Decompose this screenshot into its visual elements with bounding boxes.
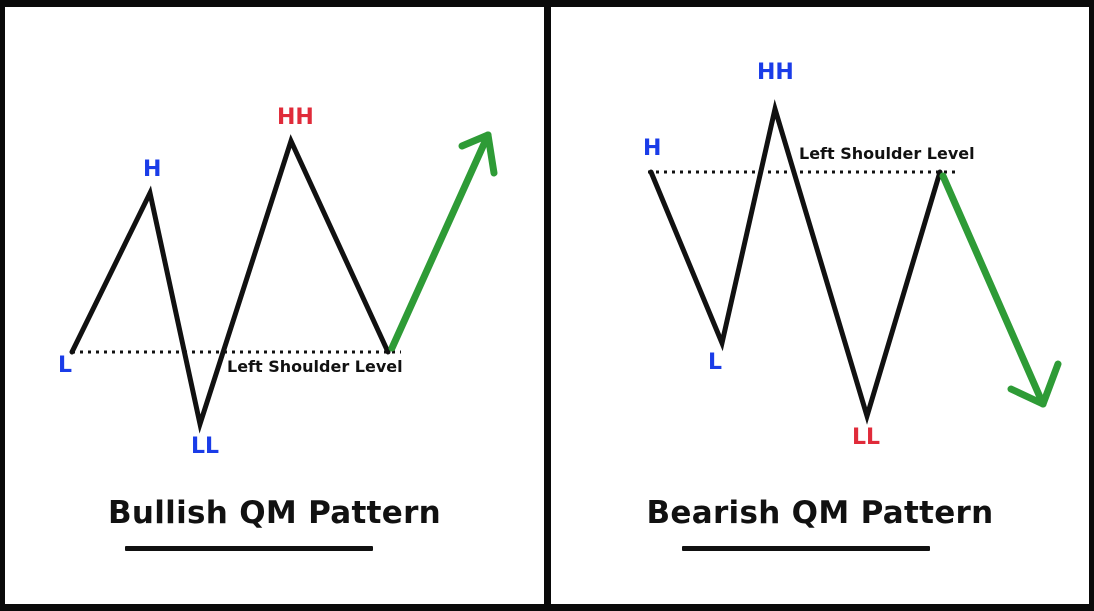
bearish-label-L: L [708, 352, 722, 374]
bullish-label-HH: HH [277, 107, 314, 129]
bearish-label-LL: LL [852, 427, 880, 449]
bullish-left-shoulder-level-caption: Left Shoulder Level [227, 359, 403, 375]
bearish-panel-title: Bearish QM Pattern [551, 495, 1089, 531]
bullish-panel-title: Bullish QM Pattern [5, 495, 544, 531]
bullish-label-L: L [58, 355, 72, 377]
bearish-label-H: H [643, 138, 661, 160]
bullish-breakout-arrow-icon [392, 135, 494, 348]
bearish-breakdown-arrow-icon [943, 176, 1058, 404]
bullish-price-path [72, 141, 388, 424]
panel-bullish: L H LL HH Left Shoulder Level Bullish QM… [5, 7, 544, 604]
bullish-label-LL: LL [191, 436, 219, 458]
frame-right-border [1089, 0, 1094, 611]
bearish-left-shoulder-level-caption: Left Shoulder Level [799, 146, 975, 162]
bearish-title-underline [682, 546, 930, 551]
bullish-label-H: H [143, 159, 161, 181]
bullish-title-underline [125, 546, 373, 551]
panel-bearish: H L HH LL Left Shoulder Level Bearish QM… [551, 7, 1089, 604]
panel-divider [544, 0, 551, 611]
bearish-label-HH: HH [757, 62, 794, 84]
qm-pattern-diagram: L H LL HH Left Shoulder Level Bullish QM… [0, 0, 1094, 611]
